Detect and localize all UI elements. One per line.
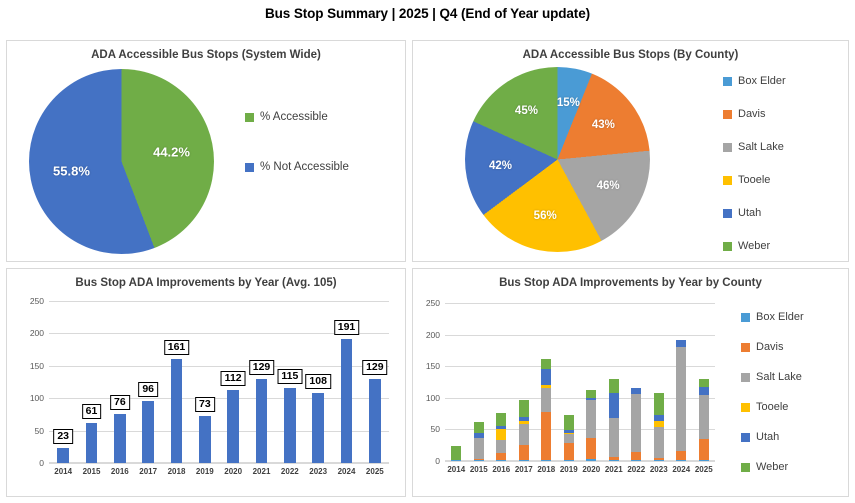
stack-segment-davis xyxy=(564,443,574,461)
page-title: Bus Stop Summary | 2025 | Q4 (End of Yea… xyxy=(0,6,855,21)
stacked-bar-2017[interactable] xyxy=(519,400,529,461)
x-axis-tick-label: 2019 xyxy=(196,467,214,476)
stack-segment-tooele xyxy=(654,421,664,427)
stack-segment-utah xyxy=(586,398,596,399)
legend-item-tooele[interactable]: Tooele xyxy=(741,401,804,413)
panel-system-wide-pie: ADA Accessible Bus Stops (System Wide) 4… xyxy=(6,40,406,262)
bar-2015[interactable] xyxy=(86,423,98,463)
bar-2018[interactable] xyxy=(171,359,183,463)
legend-item-utah[interactable]: Utah xyxy=(741,431,804,443)
stack-segment-salt-lake xyxy=(541,388,551,413)
legend-label: Salt Lake xyxy=(756,371,802,383)
x-axis-tick-label: 2024 xyxy=(338,467,356,476)
stack-segment-box-elder xyxy=(609,460,619,461)
stack-segment-salt-lake xyxy=(564,434,574,442)
legend-swatch-icon xyxy=(741,433,750,442)
stack-segment-utah xyxy=(631,388,641,394)
bar-2016[interactable] xyxy=(114,414,126,463)
stack-segment-box-elder xyxy=(474,460,484,461)
legend-label: Utah xyxy=(756,431,779,443)
x-axis-tick-label: 2016 xyxy=(111,467,129,476)
stack-segment-davis xyxy=(676,451,686,460)
bar-2021[interactable] xyxy=(256,379,268,463)
x-axis-tick-label: 2022 xyxy=(281,467,299,476)
pie-slice-label-salt-lake: 46% xyxy=(597,180,620,192)
legend-item-weber[interactable]: Weber xyxy=(741,461,804,473)
stack-segment-box-elder xyxy=(586,459,596,461)
x-axis-tick-label: 2023 xyxy=(309,467,327,476)
bar-2023[interactable] xyxy=(312,393,324,463)
stack-segment-utah xyxy=(519,417,529,421)
chart-title-system-wide: ADA Accessible Bus Stops (System Wide) xyxy=(7,49,405,61)
data-label-2015: 61 xyxy=(82,404,102,419)
legend-item-tooele[interactable]: Tooele xyxy=(723,174,786,186)
stack-segment-tooele xyxy=(519,421,529,424)
stack-segment-weber xyxy=(564,415,574,430)
data-label-2014: 23 xyxy=(53,429,73,444)
stacked-bar-2014[interactable] xyxy=(451,446,461,461)
stack-segment-salt-lake xyxy=(631,394,641,452)
stack-segment-box-elder xyxy=(564,460,574,461)
legend-item-salt-lake[interactable]: Salt Lake xyxy=(723,141,786,153)
stacked-bar-2024[interactable] xyxy=(676,340,686,461)
x-axis-tick-label: 2014 xyxy=(54,467,72,476)
legend-swatch-icon xyxy=(741,463,750,472)
stack-segment-weber xyxy=(451,446,461,459)
stack-segment-davis xyxy=(699,439,709,460)
legend-swatch-icon xyxy=(723,209,732,218)
stack-segment-utah xyxy=(699,387,709,395)
gridline xyxy=(445,366,715,367)
bar-2022[interactable] xyxy=(284,388,296,463)
pie-slice-label-tooele: 56% xyxy=(534,210,557,222)
stack-segment-box-elder xyxy=(631,460,641,461)
legend-by-county: Box ElderDavisSalt LakeTooeleUtahWeber xyxy=(723,75,786,273)
stack-segment-weber xyxy=(699,379,709,387)
legend-label: Weber xyxy=(756,461,788,473)
legend-item-davis[interactable]: Davis xyxy=(741,341,804,353)
legend-item--not-accessible[interactable]: % Not Accessible xyxy=(245,161,349,173)
legend-item-box-elder[interactable]: Box Elder xyxy=(741,311,804,323)
y-axis-tick-label: 250 xyxy=(30,296,44,306)
y-axis-tick-label: 0 xyxy=(39,458,44,468)
legend-label: Tooele xyxy=(738,174,770,186)
panel-by-county-pie: ADA Accessible Bus Stops (By County) 15%… xyxy=(412,40,849,262)
legend-swatch-icon xyxy=(723,110,732,119)
stack-segment-davis xyxy=(496,453,506,459)
x-axis-tick-label: 2020 xyxy=(224,467,242,476)
stack-segment-utah xyxy=(676,340,686,347)
x-axis-tick-label: 2018 xyxy=(537,465,555,474)
x-axis-tick-label: 2021 xyxy=(605,465,623,474)
stacked-bar-2019[interactable] xyxy=(564,415,574,461)
stack-segment-box-elder xyxy=(654,460,664,461)
y-axis-tick-label: 50 xyxy=(35,426,44,436)
legend-label: % Accessible xyxy=(260,111,328,123)
stack-segment-box-elder xyxy=(699,460,709,461)
y-axis-tick-label: 100 xyxy=(426,393,440,403)
stack-segment-utah xyxy=(541,369,551,384)
gridline xyxy=(49,301,389,302)
stack-segment-weber xyxy=(609,379,619,392)
plot-improvements-by-year: 0501001502002502361769616173112129115108… xyxy=(49,301,389,463)
x-axis-tick-label: 2024 xyxy=(672,465,690,474)
legend-item--accessible[interactable]: % Accessible xyxy=(245,111,349,123)
pie-slice-label-box-elder: 15% xyxy=(557,97,580,109)
gridline xyxy=(445,429,715,430)
bar-2017[interactable] xyxy=(142,401,154,463)
pie-system-wide: 44.2%55.8% xyxy=(29,69,214,254)
stack-segment-weber xyxy=(474,422,484,432)
stack-segment-weber xyxy=(496,413,506,426)
x-axis-tick-label: 2023 xyxy=(650,465,668,474)
plot-improvements-by-year-county: 0501001502002502014201520162017201820192… xyxy=(445,303,715,461)
gridline xyxy=(445,303,715,304)
stack-segment-weber xyxy=(586,390,596,398)
x-axis-tick-label: 2018 xyxy=(168,467,186,476)
stack-segment-salt-lake xyxy=(496,440,506,454)
legend-label: % Not Accessible xyxy=(260,161,349,173)
y-axis-tick-label: 200 xyxy=(30,328,44,338)
gridline xyxy=(49,431,389,432)
x-axis-tick-label: 2020 xyxy=(582,465,600,474)
stack-segment-salt-lake xyxy=(676,347,686,451)
stack-segment-davis xyxy=(654,458,664,460)
stack-segment-salt-lake xyxy=(699,395,709,439)
legend-swatch-icon xyxy=(741,403,750,412)
stack-segment-davis xyxy=(541,412,551,459)
legend-label: Davis xyxy=(738,108,766,120)
stacked-bar-2016[interactable] xyxy=(496,413,506,461)
gridline xyxy=(49,366,389,367)
stacked-bar-2025[interactable] xyxy=(699,379,709,461)
x-axis-tick-label: 2014 xyxy=(447,465,465,474)
stack-segment-salt-lake xyxy=(654,427,664,459)
gridline xyxy=(445,461,715,462)
stacked-bar-2020[interactable] xyxy=(586,390,596,461)
y-axis-tick-label: 100 xyxy=(30,393,44,403)
legend-item-davis[interactable]: Davis xyxy=(723,108,786,120)
gridline xyxy=(49,463,389,464)
pie-by-county: 15%43%46%56%42%45% xyxy=(465,67,650,252)
data-label-2022: 115 xyxy=(277,369,302,384)
stacked-bar-2018[interactable] xyxy=(541,359,551,461)
legend-label: Salt Lake xyxy=(738,141,784,153)
legend-item-box-elder[interactable]: Box Elder xyxy=(723,75,786,87)
stacked-bar-2023[interactable] xyxy=(654,393,664,461)
data-label-2016: 76 xyxy=(110,395,130,410)
stacked-bar-2021[interactable] xyxy=(609,379,619,461)
legend-swatch-icon xyxy=(741,343,750,352)
data-label-2020: 112 xyxy=(221,371,246,386)
x-axis-tick-label: 2025 xyxy=(695,465,713,474)
bar-2019[interactable] xyxy=(199,416,211,463)
y-axis-tick-label: 0 xyxy=(435,456,440,466)
data-label-2021: 129 xyxy=(249,360,275,375)
stack-segment-utah xyxy=(609,393,619,418)
legend-item-weber[interactable]: Weber xyxy=(723,240,786,252)
panel-improvements-by-year-county: Bus Stop ADA Improvements by Year by Cou… xyxy=(412,268,849,497)
stack-segment-box-elder xyxy=(451,460,461,461)
stack-segment-davis xyxy=(586,438,596,459)
stack-segment-davis xyxy=(609,457,619,460)
stack-segment-utah xyxy=(474,433,484,439)
pie-slice-label--accessible: 44.2% xyxy=(153,145,190,160)
legend-swatch-icon xyxy=(723,176,732,185)
legend-swatch-icon xyxy=(723,143,732,152)
stack-segment-box-elder xyxy=(496,460,506,461)
stack-segment-weber xyxy=(541,359,551,369)
pie-slice-label-davis: 43% xyxy=(592,119,615,131)
x-axis-tick-label: 2019 xyxy=(560,465,578,474)
stack-segment-salt-lake xyxy=(519,424,529,444)
legend-label: Utah xyxy=(738,207,761,219)
stack-segment-box-elder xyxy=(676,460,686,461)
pie-slice-label-weber: 45% xyxy=(515,105,538,117)
panel-improvements-by-year: Bus Stop ADA Improvements by Year (Avg. … xyxy=(6,268,406,497)
stacked-bar-2022[interactable] xyxy=(631,388,641,461)
stack-segment-salt-lake xyxy=(586,400,596,439)
bar-2025[interactable] xyxy=(369,379,381,463)
legend-system-wide: % Accessible% Not Accessible xyxy=(245,111,349,211)
x-axis-tick-label: 2015 xyxy=(470,465,488,474)
gridline xyxy=(445,398,715,399)
data-label-2018: 161 xyxy=(164,340,190,355)
stack-segment-weber xyxy=(519,400,529,417)
legend-item-utah[interactable]: Utah xyxy=(723,207,786,219)
data-label-2019: 73 xyxy=(195,397,215,412)
stack-segment-utah xyxy=(564,430,574,433)
legend-swatch-icon xyxy=(723,242,732,251)
legend-swatch-icon xyxy=(741,373,750,382)
stack-segment-davis xyxy=(474,459,484,460)
data-label-2024: 191 xyxy=(334,320,360,335)
y-axis-tick-label: 150 xyxy=(426,361,440,371)
y-axis-tick-label: 250 xyxy=(426,298,440,308)
legend-label: Weber xyxy=(738,240,770,252)
legend-label: Davis xyxy=(756,341,784,353)
legend-swatch-icon xyxy=(741,313,750,322)
legend-swatch-icon xyxy=(723,77,732,86)
y-axis-tick-label: 200 xyxy=(426,330,440,340)
stack-segment-tooele xyxy=(541,385,551,388)
stack-segment-salt-lake xyxy=(609,418,619,457)
bar-2020[interactable] xyxy=(227,390,239,463)
stack-segment-tooele xyxy=(564,433,574,435)
legend-by-county-stacked: Box ElderDavisSalt LakeTooeleUtahWeber xyxy=(741,311,804,491)
stack-segment-utah xyxy=(654,415,664,421)
x-axis-tick-label: 2015 xyxy=(83,467,101,476)
legend-label: Tooele xyxy=(756,401,788,413)
stack-segment-box-elder xyxy=(541,460,551,461)
dashboard: Bus Stop Summary | 2025 | Q4 (End of Yea… xyxy=(0,0,855,503)
x-axis-tick-label: 2017 xyxy=(139,467,157,476)
x-axis-tick-label: 2016 xyxy=(492,465,510,474)
gridline xyxy=(445,335,715,336)
pie-slice-label--not-accessible: 55.8% xyxy=(53,163,90,178)
legend-swatch-icon xyxy=(245,163,254,172)
legend-swatch-icon xyxy=(245,113,254,122)
stacked-bar-2015[interactable] xyxy=(474,422,484,461)
pie-slice-label-utah: 42% xyxy=(489,160,512,172)
legend-item-salt-lake[interactable]: Salt Lake xyxy=(741,371,804,383)
chart-title-improvements-by-year: Bus Stop ADA Improvements by Year (Avg. … xyxy=(7,277,405,289)
x-axis-tick-label: 2017 xyxy=(515,465,533,474)
stack-segment-davis xyxy=(519,445,529,461)
y-axis-tick-label: 50 xyxy=(431,424,440,434)
stack-segment-utah xyxy=(496,426,506,429)
stack-segment-weber xyxy=(654,393,664,415)
data-label-2017: 96 xyxy=(138,382,158,397)
legend-label: Box Elder xyxy=(756,311,804,323)
gridline xyxy=(49,398,389,399)
data-label-2023: 108 xyxy=(305,374,331,389)
bar-2024[interactable] xyxy=(341,339,353,463)
x-axis-tick-label: 2025 xyxy=(366,467,384,476)
legend-label: Box Elder xyxy=(738,75,786,87)
stack-segment-box-elder xyxy=(519,460,529,461)
x-axis-tick-label: 2021 xyxy=(253,467,271,476)
stack-segment-tooele xyxy=(496,429,506,440)
y-axis-tick-label: 150 xyxy=(30,361,44,371)
data-label-2025: 129 xyxy=(362,360,388,375)
stack-segment-salt-lake xyxy=(474,438,484,459)
chart-title-by-county: ADA Accessible Bus Stops (By County) xyxy=(413,49,848,61)
bar-2014[interactable] xyxy=(57,448,69,463)
x-axis-tick-label: 2022 xyxy=(627,465,645,474)
stack-segment-davis xyxy=(631,452,641,460)
chart-title-improvements-by-county: Bus Stop ADA Improvements by Year by Cou… xyxy=(413,277,848,289)
